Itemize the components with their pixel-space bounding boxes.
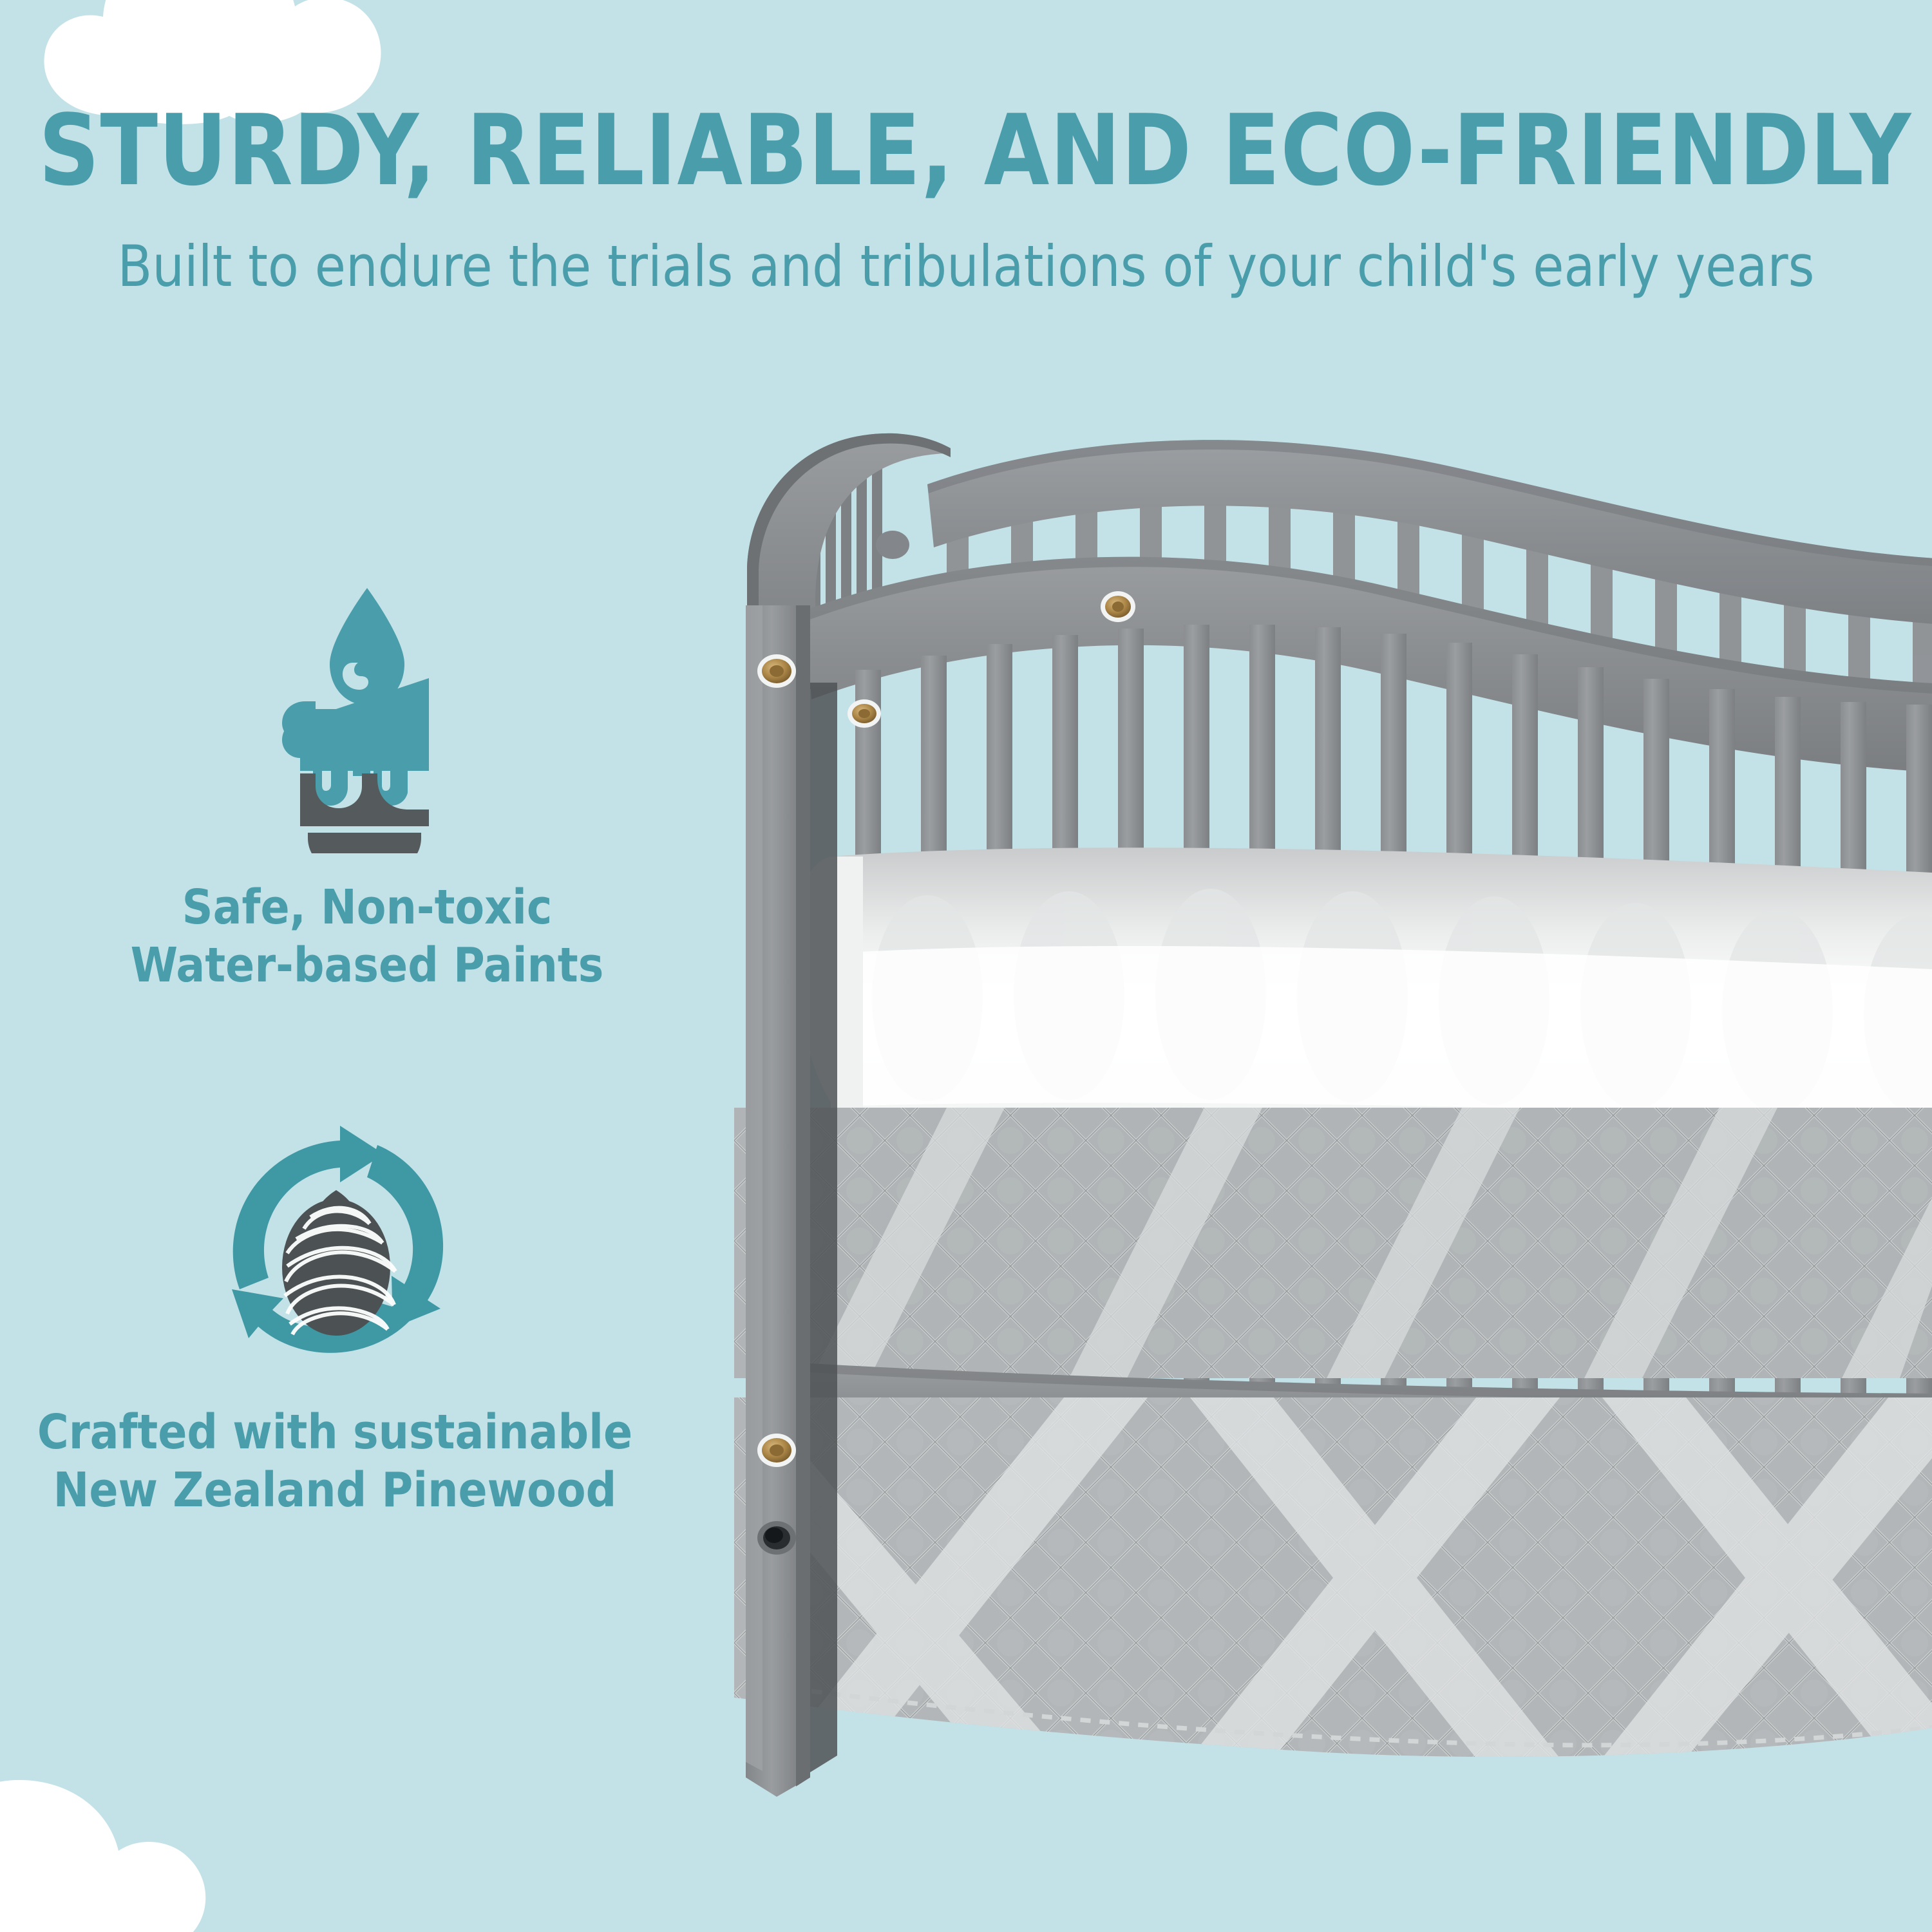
recycle-pinecone-icon <box>13 1121 657 1381</box>
feature-label: Safe, Non-toxic Water-based Paints <box>45 878 689 995</box>
promo-image: STURDY, RELIABLE, AND ECO-FRIENDLY Built… <box>0 0 1932 1932</box>
feature-sustainable-pinewood: Crafted with sustainable New Zealand Pin… <box>13 1121 657 1520</box>
feature-label: Crafted with sustainable New Zealand Pin… <box>13 1403 657 1520</box>
product-photo-crib <box>734 412 1932 1816</box>
cloud-bottom-left-icon <box>0 1765 309 1932</box>
paint-brush-water-drop-icon <box>45 583 689 857</box>
feature-label-line2: Water-based Paints <box>45 936 689 994</box>
feature-label-line2: New Zealand Pinewood <box>13 1461 657 1519</box>
feature-label-line1: Safe, Non-toxic <box>45 878 689 936</box>
feature-safe-paints: Safe, Non-toxic Water-based Paints <box>45 583 689 995</box>
feature-label-line1: Crafted with sustainable <box>13 1403 657 1461</box>
page-subtitle: Built to endure the trials and tribulati… <box>10 238 1922 295</box>
page-title: STURDY, RELIABLE, AND ECO-FRIENDLY <box>39 102 1893 200</box>
